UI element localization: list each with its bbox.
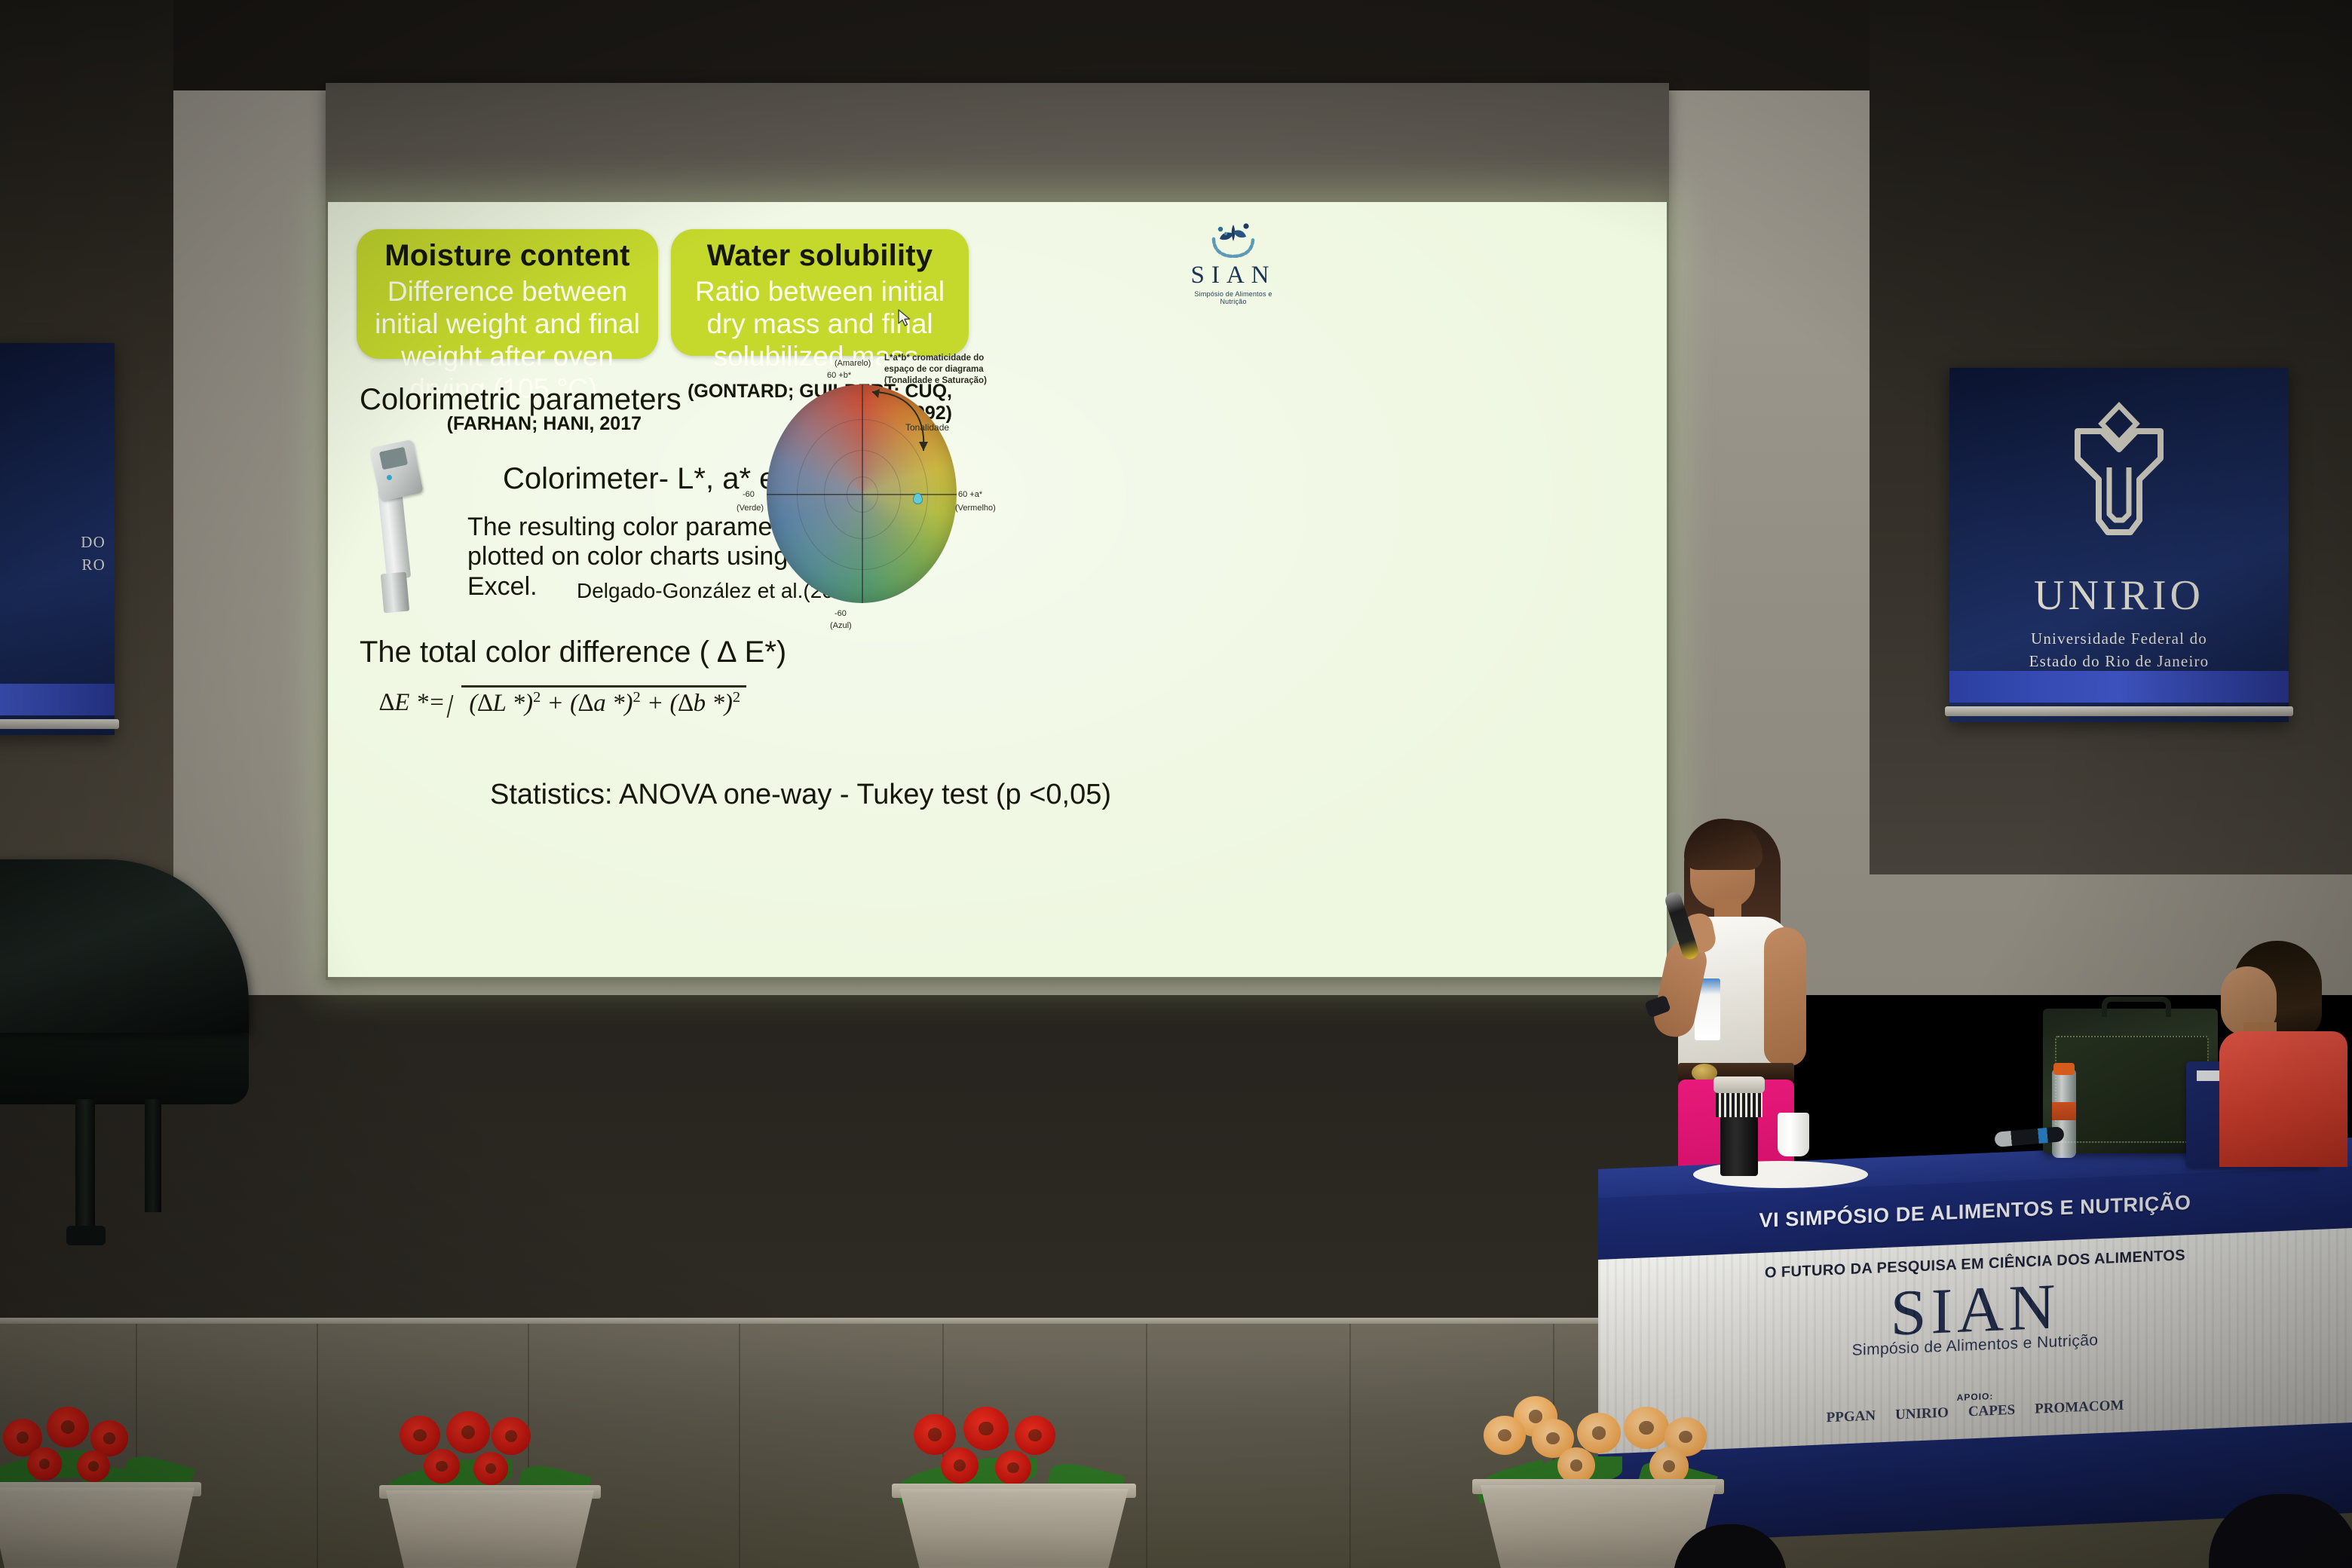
water-bottle-cap bbox=[2053, 1063, 2075, 1075]
banner-left-bottom-rail bbox=[0, 719, 119, 729]
drum-body bbox=[1720, 1114, 1758, 1176]
formula-lhs: ∆E *= bbox=[379, 689, 445, 717]
unirio-crest-icon bbox=[2055, 400, 2183, 558]
banner-footer-band bbox=[1949, 671, 2289, 703]
projection-screen: Moisture content Difference between init… bbox=[326, 83, 1669, 980]
sian-tagline: Simpósio de Alimentos e Nutrição bbox=[1184, 290, 1282, 305]
sian-banner-tagline: Simpósio de Alimentos e Nutrição bbox=[1817, 1330, 2133, 1361]
flower-planter-2 bbox=[377, 1399, 603, 1568]
chroma-caption: L*a*b* cromaticidade do espaço de cor di… bbox=[884, 353, 996, 387]
unirio-subtitle: Universidade Federal do Estado do Rio de… bbox=[1949, 628, 2289, 673]
sian-logo-slide: SIAN Simpósio de Alimentos e Nutrição bbox=[1184, 219, 1282, 305]
flower-planter-3 bbox=[890, 1396, 1138, 1568]
unirio-left-line2: RO bbox=[0, 554, 106, 577]
formula-exp-1: 2 bbox=[533, 689, 541, 706]
chroma-label-yellow-name: (Amarelo) bbox=[835, 359, 871, 368]
formula-radicand: (∆L *)2 + (∆a *)2 + (∆b *)2 bbox=[449, 689, 740, 718]
unirio-banner-left: DO RO bbox=[0, 343, 115, 735]
sponsor-unirio: UNIRIO bbox=[1895, 1404, 1949, 1423]
briefcase-handle bbox=[2102, 997, 2171, 1017]
event-title: VI SIMPÓSIO DE ALIMENTOS E NUTRIÇÃO bbox=[1598, 1184, 2352, 1239]
tonalidade-arrow-icon bbox=[868, 387, 933, 455]
sian-wordmark: SIAN bbox=[1184, 263, 1282, 288]
presenter-arm-right bbox=[1764, 927, 1806, 1066]
banner-bottom-rail bbox=[1945, 706, 2293, 716]
sian-banner-wordmark: SIAN bbox=[1817, 1273, 2133, 1346]
unirio-subtitle-line1: Universidade Federal do bbox=[1949, 628, 2289, 651]
colorimeter-body bbox=[378, 488, 411, 580]
chroma-sample-point bbox=[913, 493, 923, 504]
piano-leg-rear bbox=[145, 1099, 161, 1212]
moisture-content-box: Moisture content Difference between init… bbox=[357, 229, 658, 359]
water-solubility-box: Water solubility Ratio between initial d… bbox=[671, 229, 969, 356]
chroma-label-green-name: (Verde) bbox=[737, 504, 764, 513]
mouse-cursor-icon[interactable] bbox=[898, 309, 911, 327]
formula-term-L: (∆L *) bbox=[469, 690, 533, 717]
colorimetric-parameters-heading: Colorimetric parameters bbox=[360, 383, 681, 417]
flower-planter-1 bbox=[0, 1393, 204, 1568]
solubility-title: Water solubility bbox=[688, 240, 952, 271]
decorative-drum bbox=[1716, 1076, 1762, 1176]
chroma-label-green-value: -60 bbox=[743, 490, 755, 499]
formula-exp-3: 2 bbox=[733, 689, 740, 706]
chroma-axis-b bbox=[862, 384, 863, 603]
chroma-label-blue-name: (Azul) bbox=[830, 621, 852, 630]
moisture-title: Moisture content bbox=[373, 240, 642, 271]
formula-term-b: (∆b *) bbox=[669, 690, 732, 717]
colorimeter-base bbox=[381, 572, 409, 614]
sian-logo-banner: SIAN Simpósio de Alimentos e Nutrição bbox=[1817, 1273, 2133, 1361]
formula-exp-2: 2 bbox=[632, 689, 640, 706]
unirio-banner-right: UNIRIO Universidade Federal do Estado do… bbox=[1949, 368, 2289, 722]
seated-attendee bbox=[2207, 941, 2350, 1167]
chroma-label-red-name: (Vermelho) bbox=[955, 504, 996, 513]
colorimeter-device-image bbox=[373, 443, 420, 617]
delta-e-formula: ∆E *= (∆L *)2 + (∆a *)2 + (∆b *)2 bbox=[379, 689, 740, 718]
unirio-left-subtitle: DO RO bbox=[0, 531, 115, 577]
tonalidade-label: Tonalidade bbox=[905, 422, 949, 433]
formula-plus-1: + bbox=[547, 690, 564, 717]
formula-plus-2: + bbox=[647, 690, 663, 717]
unirio-subtitle-line2: Estado do Rio de Janeiro bbox=[1949, 651, 2289, 673]
screen-letterbox-band bbox=[326, 83, 1669, 204]
drum-head bbox=[1713, 1076, 1765, 1093]
piano-caster bbox=[66, 1226, 106, 1245]
attendee-blouse bbox=[2219, 1031, 2347, 1167]
chroma-label-red-value: 60 +a* bbox=[958, 490, 982, 499]
sponsor-ppgan: PPGAN bbox=[1827, 1408, 1876, 1427]
unirio-name: UNIRIO bbox=[1949, 571, 2289, 620]
statistics-line: Statistics: ANOVA one-way - Tukey test (… bbox=[490, 779, 1111, 811]
unirio-left-line1: DO bbox=[0, 531, 106, 554]
sponsor-capes: CAPES bbox=[1968, 1402, 2015, 1421]
plastic-cup bbox=[1778, 1113, 1809, 1156]
slide-content: Moisture content Difference between init… bbox=[328, 202, 1667, 977]
chroma-label-blue-value: -60 bbox=[835, 609, 847, 618]
formula-term-a: (∆a *) bbox=[570, 690, 632, 717]
grand-piano bbox=[0, 859, 286, 1342]
chromaticity-diagram: (Amarelo) 60 +b* 60 +a* (Vermelho) -60 (… bbox=[735, 353, 984, 677]
chroma-label-yellow-value: 60 +b* bbox=[827, 371, 851, 380]
presentation-photo: Moisture content Difference between init… bbox=[0, 0, 2352, 1568]
drum-fringe bbox=[1716, 1090, 1762, 1117]
piano-leg-front bbox=[75, 1099, 95, 1231]
sponsor-promacom: PROMACOM bbox=[2035, 1398, 2124, 1418]
sian-plant-icon bbox=[1205, 219, 1261, 258]
water-bottle-label bbox=[2052, 1102, 2076, 1120]
piano-lid bbox=[0, 859, 249, 1033]
banner-left-footer-band bbox=[0, 684, 115, 715]
total-color-difference-heading: The total color difference ( ∆ E*) bbox=[360, 635, 786, 669]
